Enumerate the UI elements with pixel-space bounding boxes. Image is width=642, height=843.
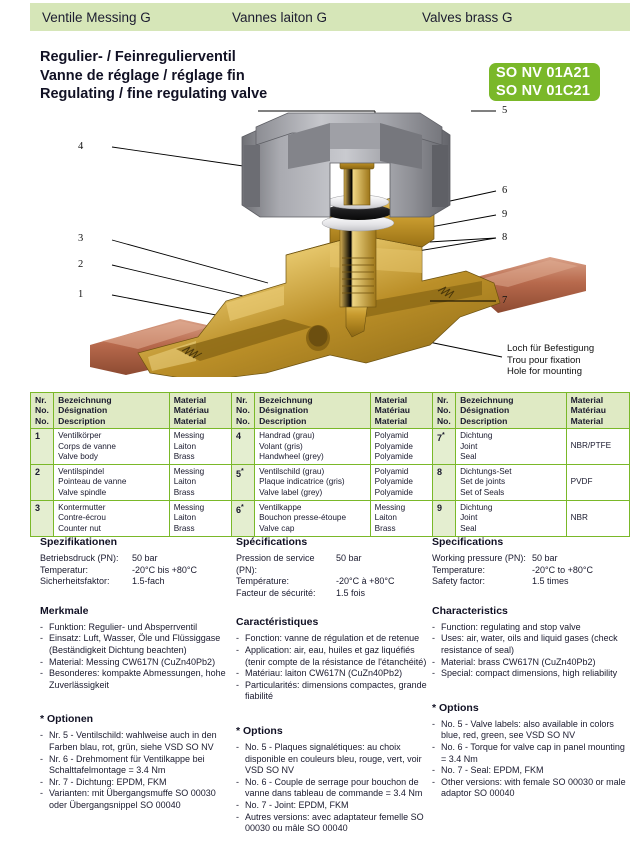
cell-description: Ventilschild (grau)Plaque indicatrice (g… [255, 465, 371, 501]
column-en: Specifications Working pressure (PN):50 … [432, 536, 632, 800]
spec-row: Betriebsdruck (PN):50 bar [40, 553, 232, 565]
valve-cutaway-figure: 4 3 2 1 5 6 9 8 7 Loch für Befestigung T… [30, 105, 630, 377]
feature-item: Einsatz: Luft, Wasser, Öle und Flüssigga… [40, 633, 232, 656]
callout-label-5: 5 [502, 105, 507, 116]
cell-description: VentilspindelPointeau de vanneValve spin… [54, 465, 170, 501]
specs-heading-en: Specifications [432, 536, 632, 548]
option-item: Autres versions: avec adaptateur femelle… [236, 812, 430, 835]
parts-table-body: 1VentilkörperCorps de vanneValve bodyMes… [31, 429, 630, 537]
cell-nr: 3 [31, 501, 54, 537]
spec-value: 1.5 fois [336, 588, 365, 600]
options-heading-text-de: Optionen [47, 713, 93, 725]
features-block-fr: Caractéristiques Fonction: vanne de régu… [236, 616, 430, 703]
options-star-en: * [432, 702, 436, 714]
article-code-line-2: SO NV 01C21 [496, 82, 600, 100]
product-title-fr: Vanne de réglage / réglage fin [40, 67, 267, 86]
header-title-fr: Vannes laiton G [232, 10, 422, 25]
cell-material: MessingLaitonBrass [169, 465, 231, 501]
options-block-fr: * Options No. 5 - Plaques signalétiques:… [236, 725, 430, 835]
option-item: No. 6 - Couple de serrage pour bouchon d… [236, 777, 430, 800]
cell-material: NBR/PTFE [566, 429, 629, 465]
parts-table: Nr. No. No. Bezeichnung Désignation Desc… [30, 392, 630, 537]
feature-item: Application: air, eau, huiles et gaz liq… [236, 645, 430, 668]
cell-material: PolyamidPolyamidePolyamide [370, 465, 432, 501]
option-item: Nr. 6 - Drehmoment für Ventilkappe bei S… [40, 754, 232, 777]
mounting-hole-label: Loch für Befestigung Trou pour fixation … [507, 343, 594, 378]
spec-row: Working pressure (PN):50 bar [432, 553, 632, 565]
column-fr: Spécifications Pression de service (PN):… [236, 536, 430, 835]
header-title-en: Valves brass G [422, 10, 612, 25]
header-title-de: Ventile Messing G [42, 10, 232, 25]
cell-nr: 4 [231, 429, 254, 465]
feature-item: Material: Messing CW617N (CuZn40Pb2) [40, 657, 232, 669]
spec-value: 1.5-fach [132, 576, 165, 588]
cell-nr: 1 [31, 429, 54, 465]
spec-label: Betriebsdruck (PN): [40, 553, 132, 565]
cell-nr: 8 [432, 465, 455, 501]
header-desc-3: Bezeichnung Désignation Description [456, 393, 567, 429]
spec-value: -20°C à +80°C [336, 576, 394, 588]
spec-value: -20°C bis +80°C [132, 565, 197, 577]
header-desc-2: Bezeichnung Désignation Description [255, 393, 371, 429]
spec-label: Pression de service (PN): [236, 553, 336, 576]
cell-description: Handrad (grau)Volant (gris)Handwheel (gr… [255, 429, 371, 465]
specs-list-fr: Pression de service (PN):50 barTempératu… [236, 553, 430, 599]
cell-description: DichtungJointSeal [456, 501, 567, 537]
header-mat-1: Material Matériau Material [169, 393, 231, 429]
table-header-row: Nr. No. No. Bezeichnung Désignation Desc… [31, 393, 630, 429]
spec-row: Sicherheitsfaktor:1.5-fach [40, 576, 232, 588]
specs-heading-fr: Spécifications [236, 536, 430, 548]
callout-label-4: 4 [78, 141, 83, 152]
header-mat-3: Material Matériau Material [566, 393, 629, 429]
header-nr-3: Nr. No. No. [432, 393, 455, 429]
options-heading-text-en: Options [439, 702, 479, 714]
cell-nr: 9 [432, 501, 455, 537]
feature-item: Special: compact dimensions, high reliab… [432, 668, 632, 680]
option-item: No. 7 - Joint: EPDM, FKM [236, 800, 430, 812]
mounting-hole-label-fr: Trou pour fixation [507, 355, 594, 367]
options-list-fr: No. 5 - Plaques signalétiques: au choix … [236, 742, 430, 835]
features-list-de: Funktion: Regulier- und AbsperrventilEin… [40, 622, 232, 692]
callout-label-1: 1 [78, 289, 83, 300]
options-block-de: * Optionen Nr. 5 - Ventilschild: wahlwei… [40, 713, 232, 811]
page-title: Regulier- / Feinregulierventil Vanne de … [40, 48, 267, 104]
spec-row: Temperature:-20°C to +80°C [432, 565, 632, 577]
features-list-en: Function: regulating and stop valveUses:… [432, 622, 632, 680]
specs-list-de: Betriebsdruck (PN):50 barTemperatur:-20°… [40, 553, 232, 588]
feature-item: Besonderes: kompakte Abmessungen, hohe Z… [40, 668, 232, 691]
specs-heading-de: Spezifikationen [40, 536, 232, 548]
datasheet-page: Ventile Messing G Vannes laiton G Valves… [0, 0, 642, 843]
spec-label: Sicherheitsfaktor: [40, 576, 132, 588]
column-de: Spezifikationen Betriebsdruck (PN):50 ba… [40, 536, 232, 812]
article-code-badge: SO NV 01A21 SO NV 01C21 [489, 63, 600, 101]
feature-item: Particularités: dimensions compactes, gr… [236, 680, 430, 703]
feature-item: Uses: air, water, oils and liquid gases … [432, 633, 632, 656]
article-code-line-1: SO NV 01A21 [496, 64, 600, 82]
cell-material: PolyamidPolyamidePolyamide [370, 429, 432, 465]
features-heading-en: Characteristics [432, 605, 632, 617]
mounting-hole-label-en: Hole for mounting [507, 366, 594, 378]
cell-nr: 6* [231, 501, 254, 537]
product-title-en: Regulating / fine regulating valve [40, 85, 267, 104]
cell-description: VentilkörperCorps de vanneValve body [54, 429, 170, 465]
product-title-de: Regulier- / Feinregulierventil [40, 48, 267, 67]
callout-label-3: 3 [78, 233, 83, 244]
spec-value: 1.5 times [532, 576, 569, 588]
language-header-bar: Ventile Messing G Vannes laiton G Valves… [30, 3, 630, 31]
cell-material: NBR [566, 501, 629, 537]
spec-label: Temperatur: [40, 565, 132, 577]
callout-label-6: 6 [502, 185, 507, 196]
options-block-en: * Options No. 5 - Valve labels: also ava… [432, 702, 632, 800]
cell-material: PVDF [566, 465, 629, 501]
features-list-fr: Fonction: vanne de régulation et de rete… [236, 633, 430, 703]
cell-nr: 2 [31, 465, 54, 501]
spec-label: Temperature: [432, 565, 532, 577]
feature-item: Funktion: Regulier- und Absperrventil [40, 622, 232, 634]
spec-row: Temperatur:-20°C bis +80°C [40, 565, 232, 577]
cell-description: KontermutterContre-écrouCounter nut [54, 501, 170, 537]
cell-material: MessingLaitonBrass [169, 501, 231, 537]
cell-nr: 7* [432, 429, 455, 465]
option-item: No. 5 - Valve labels: also available in … [432, 719, 632, 742]
options-star-de: * [40, 713, 44, 725]
options-heading-fr: * Options [236, 725, 430, 737]
option-item: No. 6 - Torque for valve cap in panel mo… [432, 742, 632, 765]
cell-description: VentilkappeBouchon presse-étoupeValve ca… [255, 501, 371, 537]
mounting-hole-label-de: Loch für Befestigung [507, 343, 594, 355]
options-star-fr: * [236, 725, 240, 737]
feature-item: Fonction: vanne de régulation et de rete… [236, 633, 430, 645]
option-item: Other versions: with female SO 00030 or … [432, 777, 632, 800]
option-item: No. 5 - Plaques signalétiques: au choix … [236, 742, 430, 777]
cell-description: DichtungJointSeal [456, 429, 567, 465]
spec-label: Facteur de sécurité: [236, 588, 336, 600]
features-heading-fr: Caractéristiques [236, 616, 430, 628]
options-heading-de: * Optionen [40, 713, 232, 725]
spec-label: Working pressure (PN): [432, 553, 532, 565]
header-mat-2: Material Matériau Material [370, 393, 432, 429]
features-heading-de: Merkmale [40, 605, 232, 617]
options-heading-en: * Options [432, 702, 632, 714]
option-item: Nr. 7 - Dichtung: EPDM, FKM [40, 777, 232, 789]
spec-row: Température:-20°C à +80°C [236, 576, 430, 588]
header-desc-1: Bezeichnung Désignation Description [54, 393, 170, 429]
option-item: Nr. 5 - Ventilschild: wahlweise auch in … [40, 730, 232, 753]
spec-value: 50 bar [532, 553, 558, 565]
header-nr-1: Nr. No. No. [31, 393, 54, 429]
table-row: 3KontermutterContre-écrouCounter nutMess… [31, 501, 630, 537]
callout-label-2: 2 [78, 259, 83, 270]
callout-label-8: 8 [502, 232, 507, 243]
cell-nr: 5* [231, 465, 254, 501]
spec-row: Pression de service (PN):50 bar [236, 553, 430, 576]
option-item: No. 7 - Seal: EPDM, FKM [432, 765, 632, 777]
table-row: 1VentilkörperCorps de vanneValve bodyMes… [31, 429, 630, 465]
cell-material: MessingLaitonBrass [370, 501, 432, 537]
spec-value: -20°C to +80°C [532, 565, 593, 577]
options-heading-text-fr: Options [243, 725, 283, 737]
options-list-en: No. 5 - Valve labels: also available in … [432, 719, 632, 800]
feature-item: Material: brass CW617N (CuZn40Pb2) [432, 657, 632, 669]
cell-description: Dichtungs-SetSet de jointsSet of Seals [456, 465, 567, 501]
spec-label: Safety factor: [432, 576, 532, 588]
callout-label-7: 7 [502, 295, 507, 306]
spec-label: Température: [236, 576, 336, 588]
parts-table-header: Nr. No. No. Bezeichnung Désignation Desc… [31, 393, 630, 429]
spec-row: Safety factor:1.5 times [432, 576, 632, 588]
options-list-de: Nr. 5 - Ventilschild: wahlweise auch in … [40, 730, 232, 811]
option-item: Varianten: mit Übergangsmuffe SO 00030 o… [40, 788, 232, 811]
cell-material: MessingLaitonBrass [169, 429, 231, 465]
feature-item: Matériau: laiton CW617N (CuZn40Pb2) [236, 668, 430, 680]
spec-value: 50 bar [336, 553, 362, 576]
table-row: 2VentilspindelPointeau de vanneValve spi… [31, 465, 630, 501]
header-nr-2: Nr. No. No. [231, 393, 254, 429]
spec-row: Facteur de sécurité:1.5 fois [236, 588, 430, 600]
features-block-en: Characteristics Function: regulating and… [432, 605, 632, 680]
callout-label-9: 9 [502, 209, 507, 220]
valve-diagram-svg [30, 105, 630, 377]
features-block-de: Merkmale Funktion: Regulier- und Absperr… [40, 605, 232, 692]
feature-item: Function: regulating and stop valve [432, 622, 632, 634]
specs-list-en: Working pressure (PN):50 barTemperature:… [432, 553, 632, 588]
spec-value: 50 bar [132, 553, 158, 565]
